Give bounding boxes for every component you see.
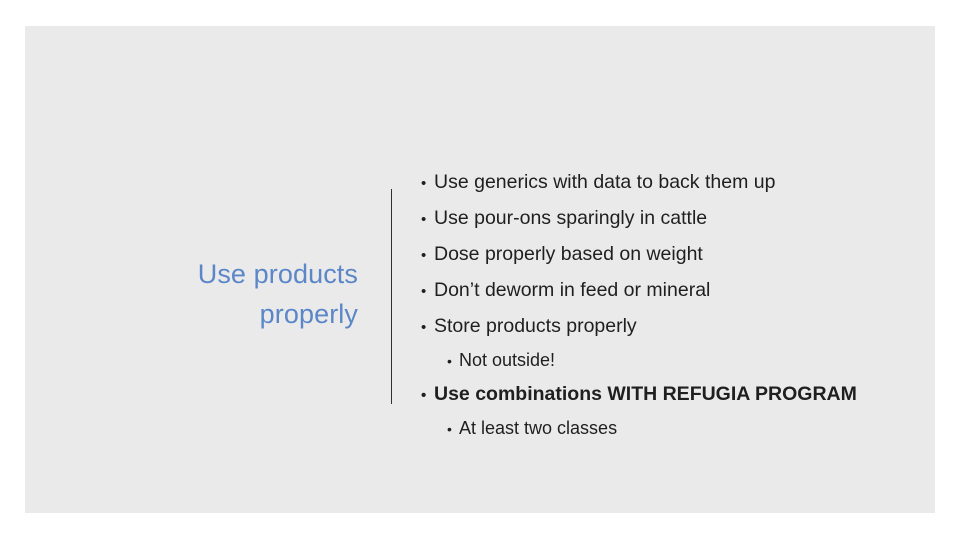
slide-canvas: Use products properly •Use generics with…	[0, 0, 960, 540]
bullet-item-label: Not outside!	[459, 345, 921, 376]
bullet-item-label: Use pour-ons sparingly in cattle	[434, 201, 921, 235]
bullet-item-label: Dose properly based on weight	[434, 237, 921, 271]
bullet-list: •Use generics with data to back them up•…	[421, 165, 921, 445]
bullet-item: •Not outside!	[421, 345, 921, 377]
bullet-item-label: At least two classes	[459, 413, 921, 444]
bullet-item: •At least two classes	[421, 413, 921, 445]
bullet-item-label: Don’t deworm in feed or mineral	[434, 273, 921, 307]
bullet-point-icon: •	[421, 167, 434, 201]
bullet-item: •Use generics with data to back them up	[421, 165, 921, 201]
bullet-item-label: Use combinations WITH REFUGIA PROGRAM	[434, 377, 921, 411]
bullet-point-icon: •	[447, 346, 459, 377]
bullet-item: •Don’t deworm in feed or mineral	[421, 273, 921, 309]
bullet-item-label: Store products properly	[434, 309, 921, 343]
slide-surface: Use products properly •Use generics with…	[25, 26, 935, 513]
title-body-divider	[391, 189, 392, 404]
bullet-point-icon: •	[421, 275, 434, 309]
slide-title: Use products properly	[85, 254, 358, 334]
bullet-point-icon: •	[421, 239, 434, 273]
bullet-item-label: Use generics with data to back them up	[434, 165, 921, 199]
bullet-item: •Use combinations WITH REFUGIA PROGRAM	[421, 377, 921, 413]
bullet-point-icon: •	[421, 379, 434, 413]
bullet-point-icon: •	[421, 203, 434, 237]
bullet-item: •Store products properly	[421, 309, 921, 345]
bullet-point-icon: •	[421, 311, 434, 345]
bullet-item: •Use pour-ons sparingly in cattle	[421, 201, 921, 237]
bullet-item: •Dose properly based on weight	[421, 237, 921, 273]
bullet-point-icon: •	[447, 414, 459, 445]
